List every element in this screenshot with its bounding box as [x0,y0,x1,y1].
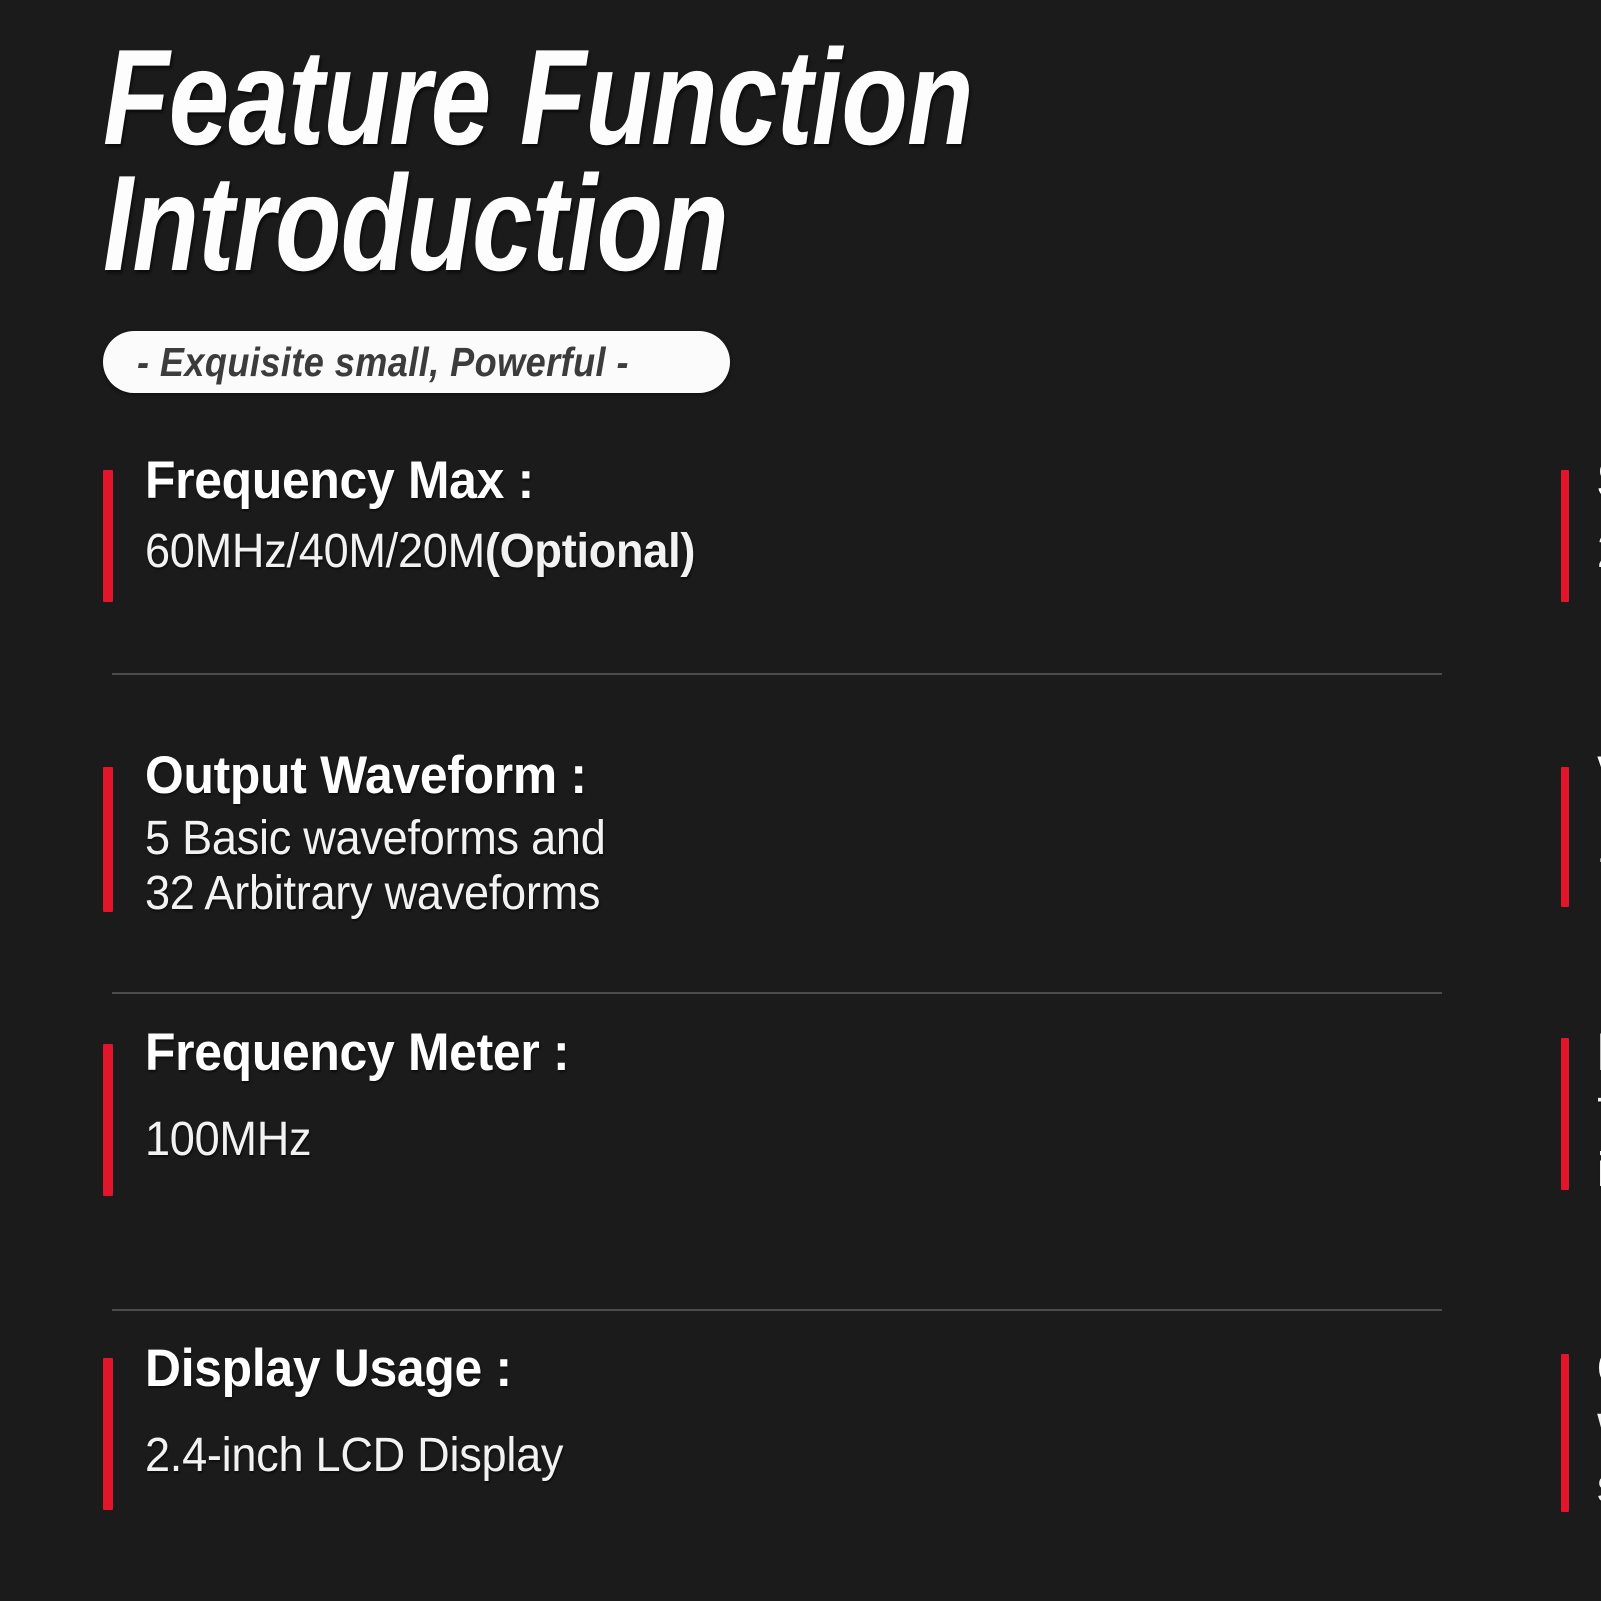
accent-bar-icon [1561,767,1569,907]
subtitle-badge-label: - Exquisite small, Powerful - [137,342,629,383]
spec-value-text: 60MHz/40M/20M [145,525,485,578]
spec-value-line-1: Waveform editor [1597,1404,1601,1459]
spec-value: 60MHz/40M/20M(Optional) [145,524,695,579]
row-divider [112,673,1442,675]
spec-value: 100MHz [145,1112,569,1167]
spec-item-frequency-meter: Frequency Meter : 100MHz [0,1024,772,1198]
spec-item-multiple-channel-test: Multiple Channel Test : Two channels, in… [772,1024,1601,1198]
spec-title: Multiple Channel Test : [1597,1024,1601,1082]
spec-value-line-1: 5 Basic waveforms and [145,811,606,866]
spec-title: Frequency Max : [145,452,695,510]
accent-bar-icon [103,1044,113,1196]
subtitle-badge: - Exquisite small, Powerful - [103,331,730,393]
row-divider [112,992,1442,994]
accent-bar-icon [1561,1354,1569,1512]
spec-title: Output Waveform : [145,747,606,805]
spec-value-line-2: independent Test [1597,1143,1601,1198]
spec-row: Display Usage : 2.4-inch LCD Display Com… [0,1340,1601,1514]
spec-item-output-waveform: Output Waveform : 5 Basic waveforms and … [0,747,772,921]
spec-title: Frequency Meter : [145,1024,569,1082]
spec-item-display-usage: Display Usage : 2.4-inch LCD Display [0,1340,772,1514]
spec-title: Complimentary : [1597,1340,1601,1398]
spec-value-line-1: Two channels, [1597,1088,1601,1143]
spec-value-emphasis: (Optional) [485,525,695,578]
spec-item-complimentary: Complimentary : Waveform editor software [772,1340,1601,1514]
spec-value: 200MSa/S [1597,524,1601,579]
page-header: Feature Function Introduction [103,34,1463,286]
spec-item-sampling-frequency: Sampling Frequency : 200MSa/S [772,452,1601,579]
spec-value: 2.4-inch LCD Display [145,1428,563,1483]
accent-bar-icon [103,1358,113,1510]
spec-title: Sampling Frequency : [1597,452,1601,510]
spec-title: Display Usage : [145,1340,563,1398]
row-divider [112,1309,1442,1311]
accent-bar-icon [103,470,113,602]
page-title-line-2: Introduction [103,160,1191,286]
spec-value-line-2: 32 Arbitrary waveforms [145,866,606,921]
accent-bar-icon [103,767,113,912]
spec-item-frequency-max: Frequency Max : 60MHz/40M/20M(Optional) [0,452,772,579]
spec-value-line-2: software [1597,1459,1601,1514]
spec-value: 13 Bit [1597,819,1601,874]
spec-row: Frequency Meter : 100MHz Multiple Channe… [0,1024,1601,1198]
spec-row: Output Waveform : 5 Basic waveforms and … [0,747,1601,921]
accent-bar-icon [1561,1038,1569,1190]
accent-bar-icon [1561,470,1569,602]
spec-item-vertical-resolution: Vertical Resolution : 13 Bit [772,747,1601,921]
feature-function-introduction-page: Feature Function Introduction - Exquisit… [0,0,1601,1601]
spec-row: Frequency Max : 60MHz/40M/20M(Optional) … [0,452,1601,579]
spec-title: Vertical Resolution : [1597,747,1601,805]
page-title-line-1: Feature Function [103,34,1191,160]
